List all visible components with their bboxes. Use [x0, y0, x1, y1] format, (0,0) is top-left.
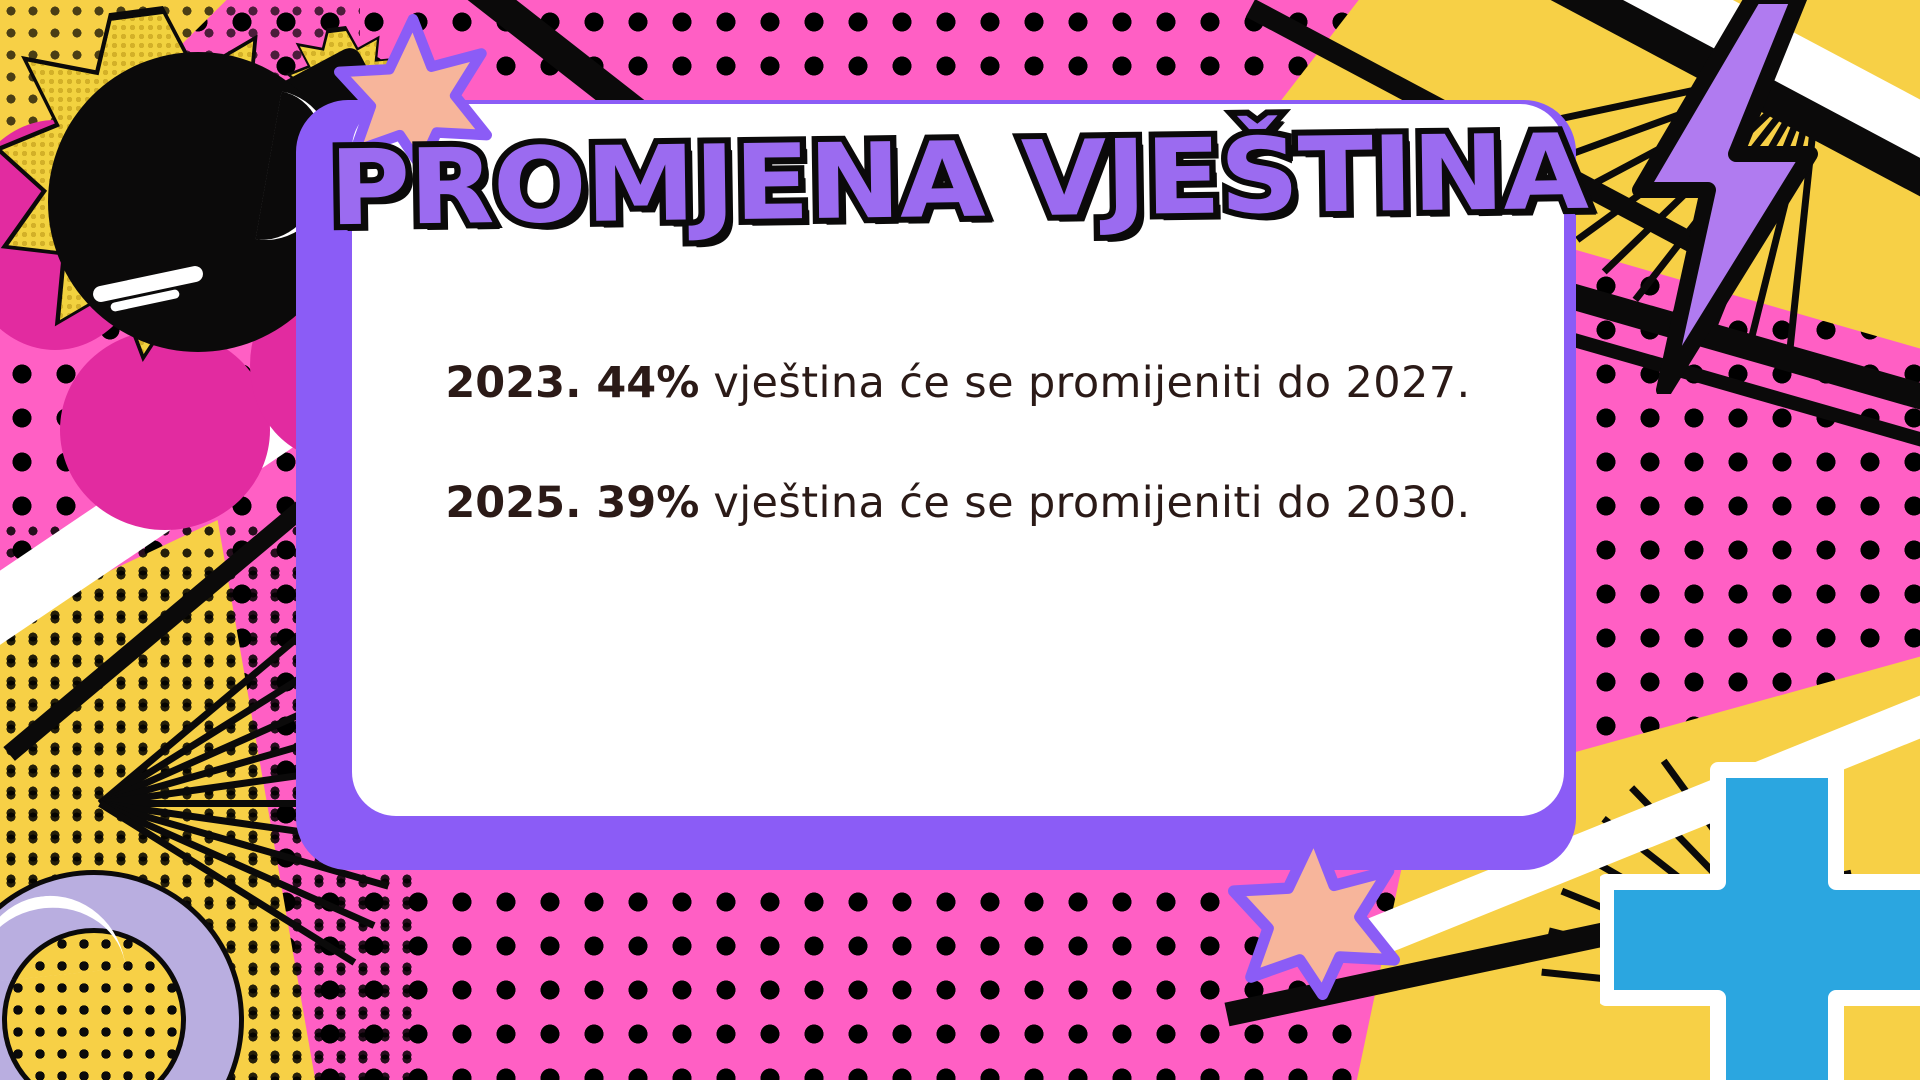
lightning-bolt-wrap	[1604, 0, 1834, 394]
statistic-lead: 2023. 44%	[445, 358, 699, 408]
body-text-wrap: 2023. 44% vještina će se promijeniti do …	[392, 352, 1524, 535]
six-point-star-icon	[1228, 828, 1400, 1000]
six-point-star-top-left-wrap	[334, 14, 492, 172]
plus-cross-icon	[1600, 760, 1920, 1080]
plus-cross-wrap	[1600, 760, 1920, 1080]
lightning-bolt-icon	[1604, 0, 1834, 394]
ring-icon	[0, 870, 244, 1080]
statistic-lead: 2025. 39%	[445, 478, 699, 528]
six-point-star-bottom-right-wrap	[1228, 828, 1400, 1000]
statistic-rest: vještina će se promijeniti do 2030.	[699, 478, 1470, 528]
magenta-blob-left-2	[60, 330, 270, 530]
statistic-paragraph: 2025. 39% vještina će se promijeniti do …	[392, 472, 1524, 534]
six-point-star-icon	[334, 14, 492, 172]
statistic-paragraph: 2023. 44% vještina će se promijeniti do …	[392, 352, 1524, 414]
statistic-rest: vještina će se promijeniti do 2027.	[699, 358, 1470, 408]
slide-canvas: PROMJENA VJEŠTINA 2023. 44% vještina će …	[0, 0, 1920, 1080]
